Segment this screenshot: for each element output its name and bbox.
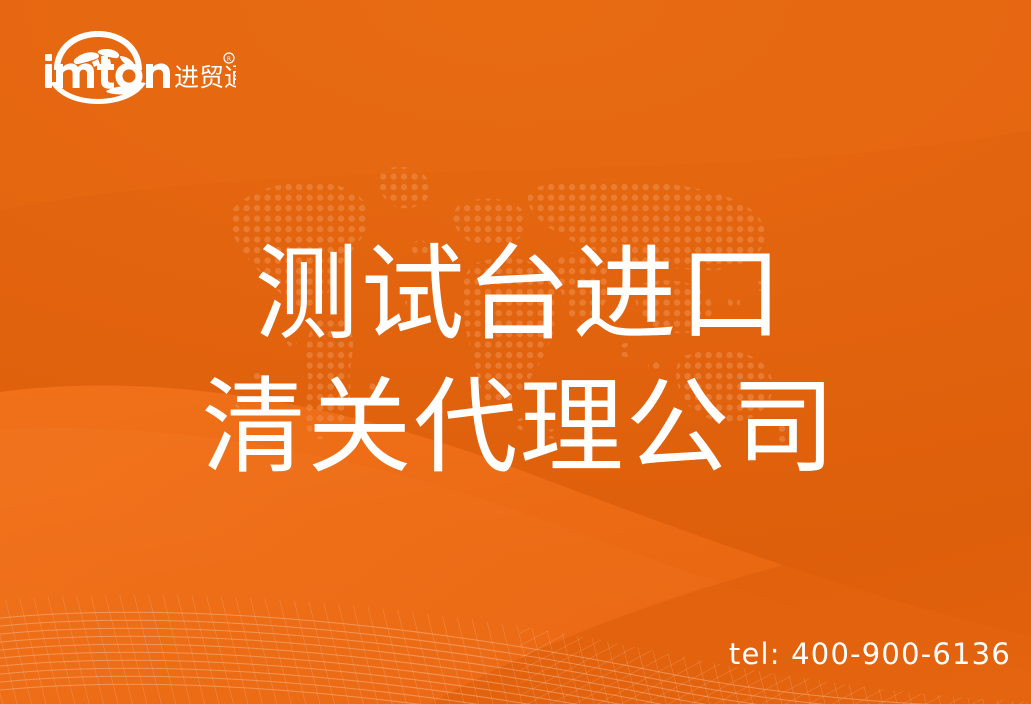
promo-banner: 进贸通 R 测试台进口 清关代理公司 tel: 400-900-6136 [0, 0, 1031, 704]
company-logo[interactable]: 进贸通 R [36, 26, 236, 104]
svg-text:进贸通: 进贸通 [174, 63, 236, 92]
dotted-world-map [222, 152, 800, 452]
registered-trademark-icon: R [224, 53, 234, 63]
logo-chinese-name: 进贸通 [174, 63, 236, 92]
contact-phone[interactable]: tel: 400-900-6136 [729, 637, 1011, 671]
logo-wordmark [45, 54, 170, 89]
svg-text:R: R [227, 56, 231, 63]
